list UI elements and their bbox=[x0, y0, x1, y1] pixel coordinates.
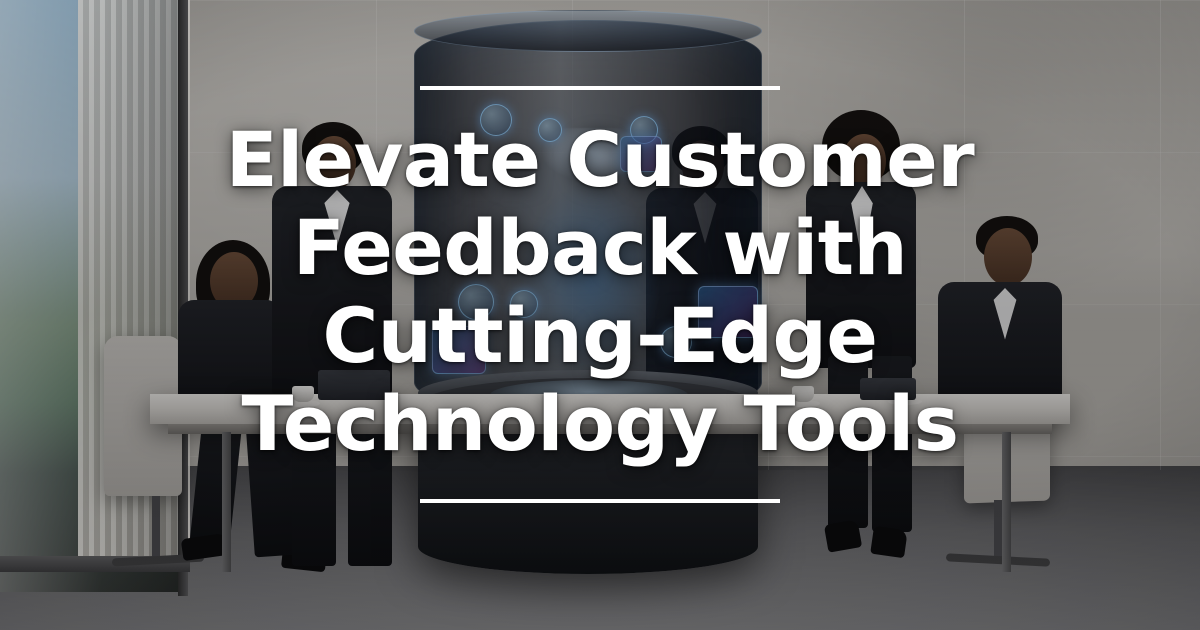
divider-rule-bottom bbox=[420, 499, 780, 503]
promo-banner: Elevate Customer Feedback with Cutting-E… bbox=[0, 0, 1200, 630]
page-title: Elevate Customer Feedback with Cutting-E… bbox=[0, 116, 1200, 469]
divider-rule-top bbox=[420, 86, 780, 90]
title-block: Elevate Customer Feedback with Cutting-E… bbox=[0, 86, 1200, 503]
